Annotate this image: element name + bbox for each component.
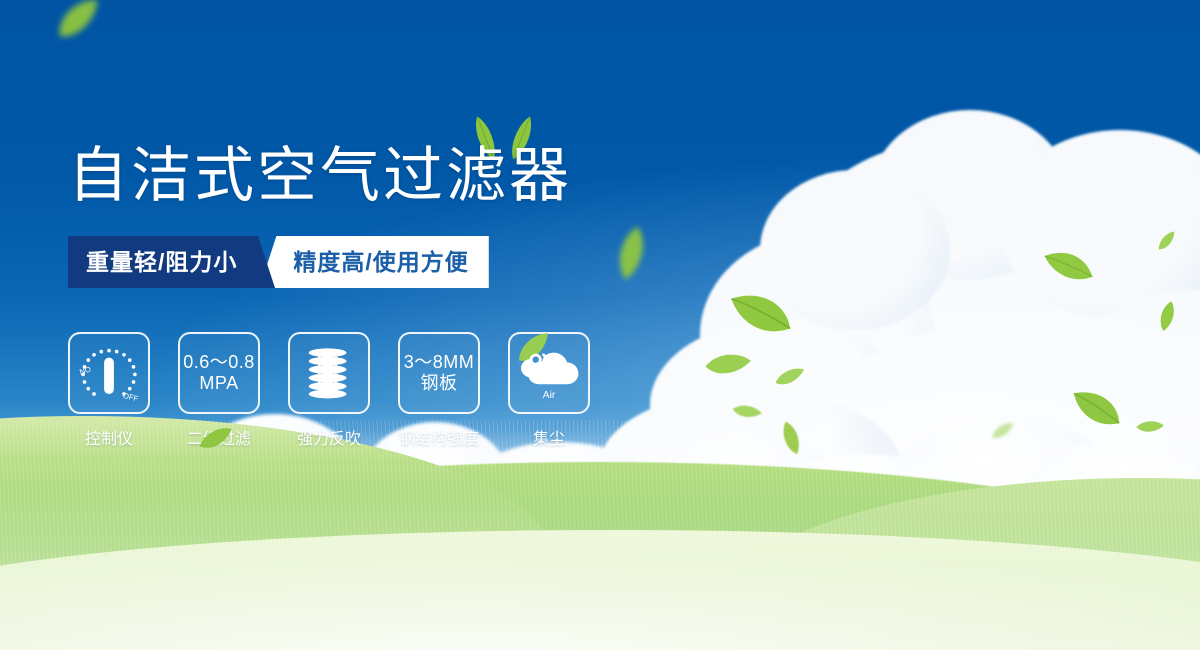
feature-label: 集尘 [533,425,565,449]
subtitle-ribbon: 重量轻/阻力小 精度高/使用方便 [68,236,489,288]
steel-thickness: 3～8MM [404,352,475,373]
page-title: 自洁式空气过滤器 [68,143,572,209]
banner-content: 自洁式空气过滤器 重量轻/阻力小 精度高/使用方便 [0,0,1200,650]
feature-item-backblow[interactable]: 强力反吹 [288,332,370,449]
feature-icon-box: NO OFF [68,332,150,414]
feature-icon-box: Air [508,332,590,414]
feature-item-controller[interactable]: NO OFF 控制仪 [68,332,150,449]
steel-plate-text-icon: 3～8MM 钢板 [404,352,475,394]
feature-icon-box: 0.6～0.8 MPA [178,332,260,414]
steel-material: 钢板 [404,373,475,394]
feature-list: NO OFF 控制仪 0.6～0.8 MPA 二级过滤 [68,332,590,449]
feature-item-steel-strength[interactable]: 3～8MM 钢板 钢结构强度 [398,332,480,449]
pressure-unit: MPA [183,373,255,394]
feature-icon-box: 3～8MM 钢板 [398,332,480,414]
pressure-value: 0.6～0.8 [183,352,255,373]
feature-label: 控制仪 [85,425,133,449]
svg-text:Air: Air [543,389,556,401]
filter-coil-icon [294,338,364,408]
pressure-text-icon: 0.6～0.8 MPA [183,352,255,394]
feature-label: 强力反吹 [297,425,361,449]
air-cloud-icon: Air [514,338,584,408]
feature-icon-box [288,332,370,414]
gauge-controller-icon: NO OFF [74,338,144,408]
feature-label: 钢结构强度 [399,425,479,449]
product-banner: 自洁式空气过滤器 重量轻/阻力小 精度高/使用方便 [0,0,1200,650]
subtitle-badge-left: 重量轻/阻力小 [68,236,259,288]
svg-text:NO: NO [78,365,92,377]
subtitle-badge-right: 精度高/使用方便 [259,236,488,288]
feature-item-dust-collection[interactable]: Air 集尘 [508,332,590,449]
svg-text:OFF: OFF [122,391,139,404]
